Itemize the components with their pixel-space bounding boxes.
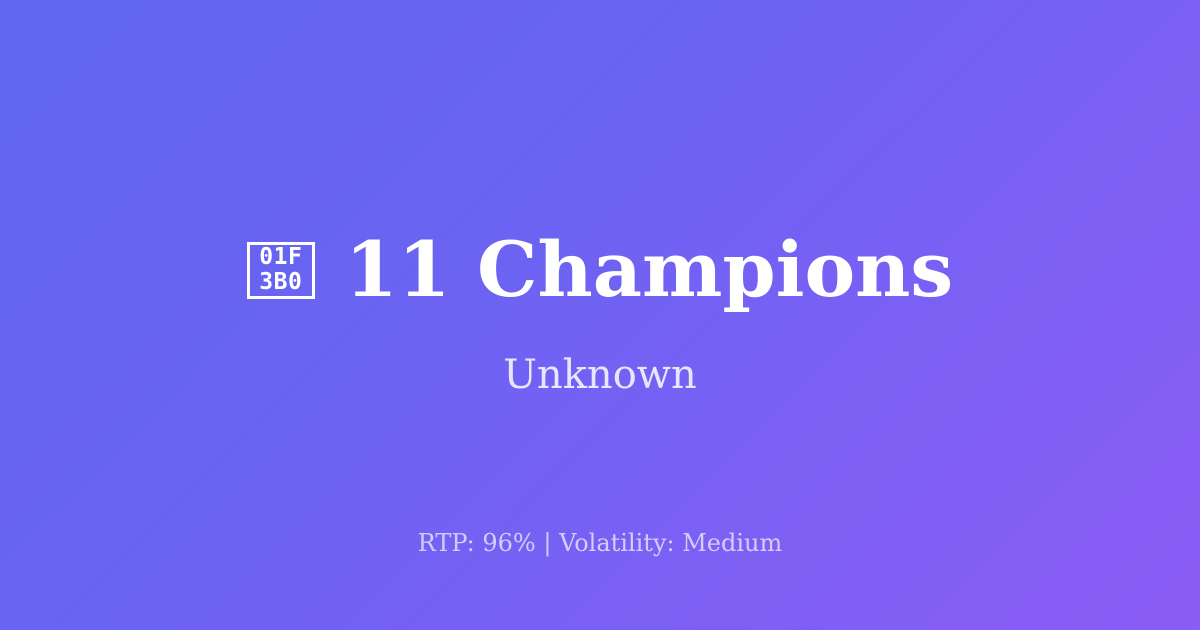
card-subtitle: Unknown: [503, 352, 697, 398]
missing-glyph-hex-bottom: 3B0: [259, 270, 302, 295]
title-row: 01F 3B0 11 Champions: [247, 228, 953, 312]
game-preview-card: 01F 3B0 11 Champions Unknown RTP: 96% | …: [0, 0, 1200, 630]
slot-machine-icon: 01F 3B0: [247, 242, 315, 299]
missing-glyph-hex-top: 01F: [259, 245, 302, 270]
card-footer-stats: RTP: 96% | Volatility: Medium: [0, 528, 1200, 558]
card-hero: 01F 3B0 11 Champions Unknown: [0, 228, 1200, 398]
page-title: 11 Champions: [345, 228, 953, 312]
